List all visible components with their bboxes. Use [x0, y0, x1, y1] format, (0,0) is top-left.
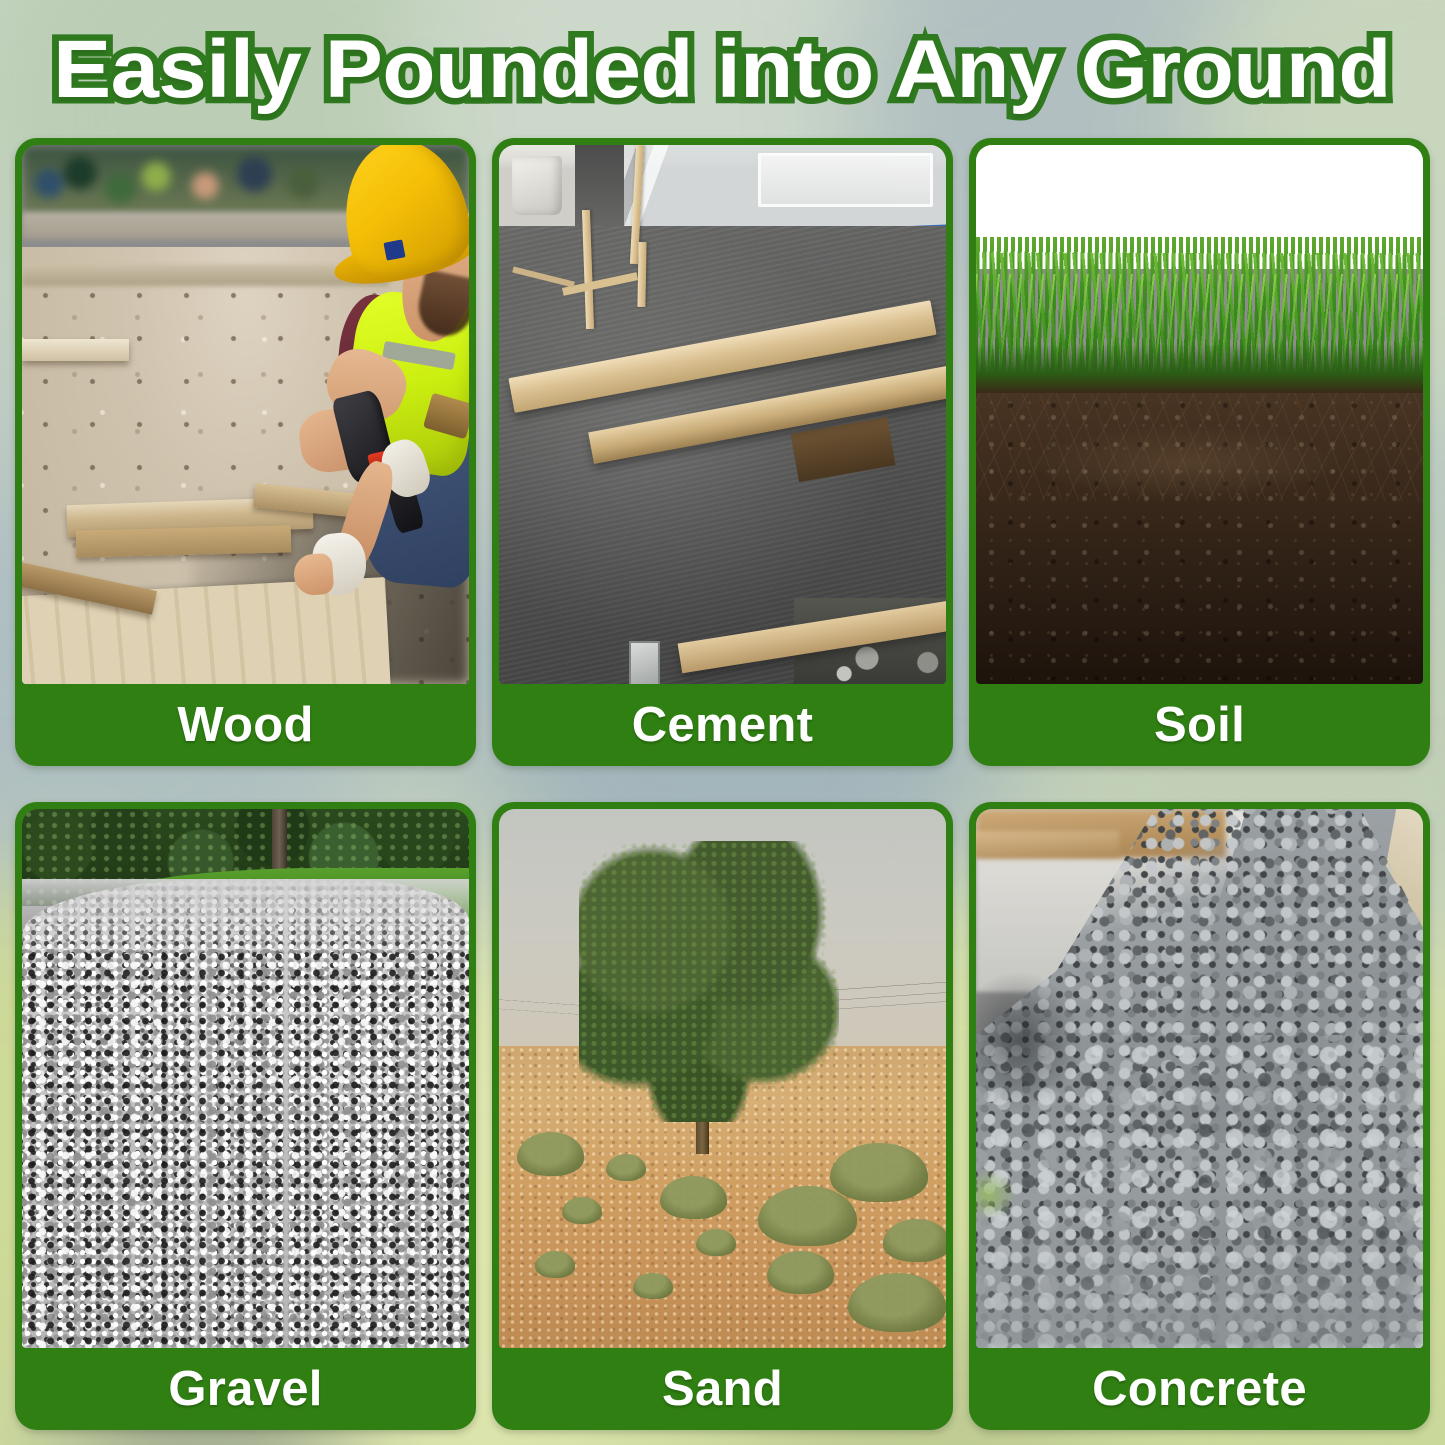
worker-figure	[205, 145, 469, 657]
card-wood[interactable]: Wood	[15, 138, 476, 766]
card-label-sand: Sand	[499, 1348, 946, 1430]
headline-banner: Easily Pounded into Any Ground	[0, 24, 1445, 116]
card-label-wood: Wood	[22, 684, 469, 766]
photo-soil	[976, 145, 1423, 684]
ground-types-grid: Wood Cement	[15, 138, 1430, 1430]
card-label-gravel: Gravel	[22, 1348, 469, 1430]
photo-wood	[22, 145, 469, 684]
card-label-cement: Cement	[499, 684, 946, 766]
photo-concrete	[976, 809, 1423, 1348]
card-label-soil: Soil	[976, 684, 1423, 766]
card-soil[interactable]: Soil	[969, 138, 1430, 766]
photo-sand	[499, 809, 946, 1348]
card-concrete[interactable]: Concrete	[969, 802, 1430, 1430]
photo-gravel	[22, 809, 469, 1348]
photo-cement	[499, 145, 946, 684]
page-title: Easily Pounded into Any Ground	[54, 23, 1392, 117]
card-sand[interactable]: Sand	[492, 802, 953, 1430]
card-label-concrete: Concrete	[976, 1348, 1423, 1430]
card-cement[interactable]: Cement	[492, 138, 953, 766]
card-gravel[interactable]: Gravel	[15, 802, 476, 1430]
